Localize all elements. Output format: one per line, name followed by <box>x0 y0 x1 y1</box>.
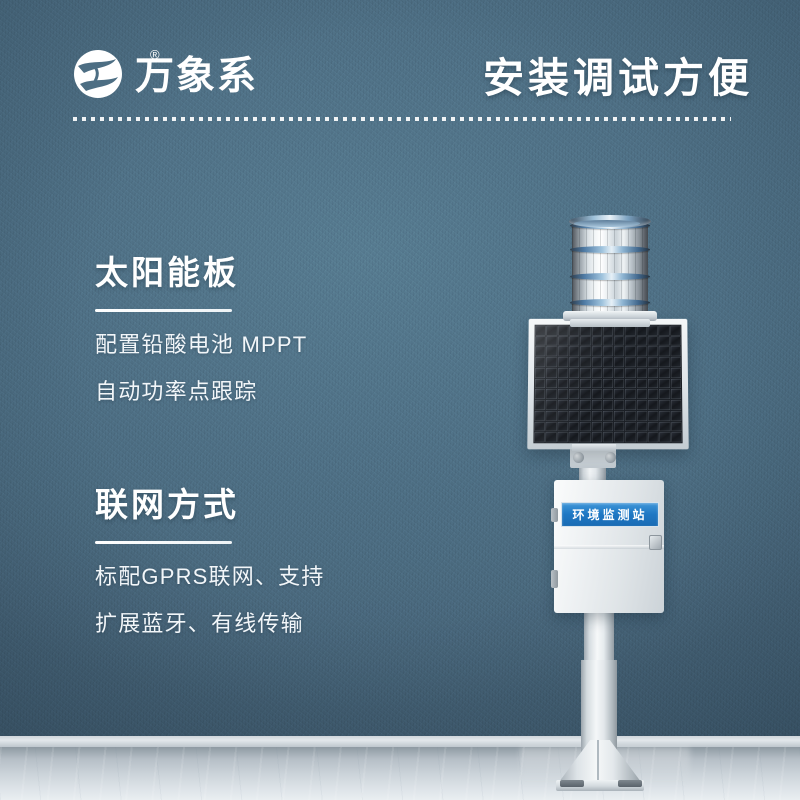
solar-cell <box>637 400 647 410</box>
solar-cell <box>546 422 556 432</box>
solar-cell <box>535 422 545 432</box>
enclosure-label: 环境监测站 <box>561 502 659 527</box>
solar-cell <box>535 411 545 421</box>
solar-cell <box>591 422 601 432</box>
solar-cell <box>557 389 567 399</box>
solar-cell <box>558 357 568 367</box>
solar-cell-grid <box>533 325 682 444</box>
solar-cell <box>547 326 557 336</box>
solar-cell <box>648 432 658 442</box>
solar-cell <box>637 368 647 378</box>
solar-cell <box>671 379 681 389</box>
bracket-bolt <box>573 452 584 463</box>
solar-cell <box>535 389 545 399</box>
solar-cell <box>603 422 613 432</box>
solar-cell <box>625 357 635 367</box>
solar-cell <box>592 336 602 346</box>
solar-cell <box>637 422 647 432</box>
solar-cell <box>670 347 680 357</box>
solar-cell <box>603 357 613 367</box>
solar-cell <box>625 389 635 399</box>
solar-cell <box>535 368 545 378</box>
solar-cell <box>592 357 602 367</box>
solar-cell <box>558 326 568 336</box>
solar-cell <box>603 400 613 410</box>
solar-cell <box>569 357 579 367</box>
solar-cell <box>648 368 658 378</box>
solar-cell <box>580 422 590 432</box>
solar-cell <box>580 336 590 346</box>
solar-cell <box>580 379 590 389</box>
solar-cell <box>659 357 669 367</box>
solar-cell <box>648 326 658 336</box>
solar-cell <box>546 368 556 378</box>
product-device: 环境监测站 <box>0 0 800 800</box>
rain-gauge-sensor <box>572 213 648 318</box>
solar-cell <box>614 368 624 378</box>
solar-cell <box>569 379 579 389</box>
solar-cell <box>535 357 545 367</box>
solar-cell <box>592 347 602 357</box>
solar-cell <box>671 400 681 410</box>
enclosure-hinge <box>551 508 558 522</box>
solar-cell <box>614 347 624 357</box>
solar-cell <box>625 379 635 389</box>
solar-cell <box>625 336 635 346</box>
solar-cell <box>603 379 613 389</box>
solar-cell <box>670 336 680 346</box>
solar-cell <box>659 400 669 410</box>
solar-cell <box>603 347 613 357</box>
solar-cell <box>535 379 545 389</box>
solar-panel-foot <box>572 444 616 451</box>
base-anchor-bolt <box>560 780 584 787</box>
solar-cell <box>671 432 681 442</box>
solar-cell <box>569 389 579 399</box>
solar-cell <box>626 422 636 432</box>
product-banner: 万象系 ® 安装调试方便 太阳能板 配置铅酸电池 MPPT 自动功率点跟踪 联网… <box>0 0 800 800</box>
solar-cell <box>558 336 568 346</box>
solar-cell <box>569 368 579 378</box>
solar-cell <box>648 400 658 410</box>
solar-cell <box>648 379 658 389</box>
solar-cell <box>603 389 613 399</box>
solar-cell <box>670 326 680 336</box>
solar-cell <box>591 411 601 421</box>
solar-cell <box>535 326 545 336</box>
solar-cell <box>648 389 658 399</box>
solar-cell <box>569 336 579 346</box>
solar-cell <box>648 347 658 357</box>
solar-cell <box>591 400 601 410</box>
solar-cell <box>580 347 590 357</box>
solar-cell <box>671 422 681 432</box>
solar-cell <box>591 432 601 442</box>
solar-cell <box>591 389 601 399</box>
solar-cell <box>626 432 636 442</box>
solar-cell <box>660 422 670 432</box>
solar-cell <box>671 411 681 421</box>
solar-cell <box>625 368 635 378</box>
solar-cell <box>557 411 567 421</box>
solar-cell <box>569 347 579 357</box>
solar-cell <box>659 389 669 399</box>
solar-cell <box>580 357 590 367</box>
solar-cell <box>670 357 680 367</box>
solar-cell <box>614 411 624 421</box>
base-anchor-bolt <box>618 780 642 787</box>
gauge-ring <box>570 299 650 306</box>
solar-cell <box>637 357 647 367</box>
solar-cell <box>648 422 658 432</box>
solar-cell <box>558 347 568 357</box>
solar-cell <box>569 400 579 410</box>
solar-cell <box>637 379 647 389</box>
solar-cell <box>614 432 624 442</box>
solar-cell <box>546 379 556 389</box>
solar-cell <box>626 411 636 421</box>
solar-cell <box>592 326 602 336</box>
bracket-bolt <box>605 452 616 463</box>
solar-cell <box>603 368 613 378</box>
solar-cell <box>557 400 567 410</box>
control-box-door-seam <box>554 545 664 549</box>
solar-cell <box>659 336 669 346</box>
solar-cell <box>625 326 635 336</box>
solar-cell <box>535 336 545 346</box>
enclosure-latch <box>649 535 662 550</box>
solar-cell <box>614 422 624 432</box>
solar-cell <box>637 389 647 399</box>
solar-cell <box>614 357 624 367</box>
solar-cell <box>569 411 579 421</box>
solar-cell <box>637 336 647 346</box>
solar-cell <box>625 347 635 357</box>
solar-cell <box>535 347 545 357</box>
solar-cell <box>659 326 669 336</box>
solar-cell <box>637 326 647 336</box>
solar-cell <box>546 357 556 367</box>
solar-cell <box>580 432 590 442</box>
solar-cell <box>614 400 624 410</box>
solar-cell <box>625 400 635 410</box>
solar-cell <box>637 347 647 357</box>
solar-cell <box>671 368 681 378</box>
solar-cell <box>546 411 556 421</box>
solar-cell <box>580 368 590 378</box>
solar-cell <box>569 432 579 442</box>
solar-cell <box>603 411 613 421</box>
solar-cell <box>557 432 567 442</box>
solar-cell <box>648 411 658 421</box>
solar-cell <box>580 400 590 410</box>
pole-seam <box>597 740 599 784</box>
solar-cell <box>614 336 624 346</box>
solar-cell <box>660 411 670 421</box>
solar-panel <box>527 319 688 450</box>
solar-cell <box>546 400 556 410</box>
solar-cell <box>660 432 670 442</box>
solar-cell <box>569 326 579 336</box>
solar-cell <box>592 379 602 389</box>
enclosure-hinge <box>551 570 558 588</box>
gauge-ring <box>570 273 650 280</box>
solar-cell <box>603 336 613 346</box>
solar-cell <box>569 422 579 432</box>
solar-cell <box>637 411 647 421</box>
solar-cell <box>580 411 590 421</box>
solar-cell <box>558 379 568 389</box>
solar-cell <box>659 347 669 357</box>
solar-cell <box>614 326 624 336</box>
solar-cell <box>671 389 681 399</box>
solar-cell <box>637 432 647 442</box>
solar-cell <box>580 389 590 399</box>
gauge-base-collar <box>570 319 650 327</box>
solar-cell <box>603 326 613 336</box>
solar-cell <box>546 432 556 442</box>
solar-cell <box>546 389 556 399</box>
solar-cell <box>557 422 567 432</box>
solar-cell <box>648 357 658 367</box>
solar-cell <box>534 432 544 442</box>
gauge-ring <box>570 246 650 253</box>
solar-cell <box>580 326 590 336</box>
solar-cell <box>648 336 658 346</box>
solar-cell <box>659 368 669 378</box>
solar-cell <box>592 368 602 378</box>
gauge-top-rim <box>569 215 651 228</box>
pole-base-flare <box>559 740 641 782</box>
solar-cell <box>558 368 568 378</box>
solar-cell <box>535 400 545 410</box>
solar-cell <box>614 389 624 399</box>
solar-cell <box>547 347 557 357</box>
solar-cell <box>659 379 669 389</box>
solar-cell <box>547 336 557 346</box>
solar-cell <box>614 379 624 389</box>
gauge-rim-inner <box>574 220 640 227</box>
solar-cell <box>603 432 613 442</box>
